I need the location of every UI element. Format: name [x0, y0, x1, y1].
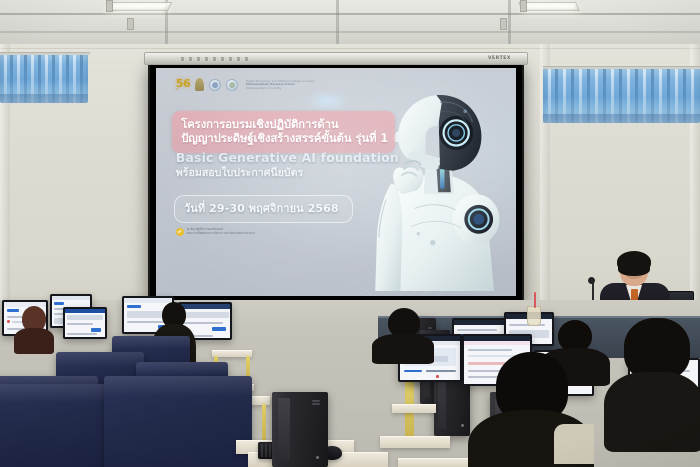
projector-glare-spot	[304, 91, 350, 111]
light-bracket	[500, 18, 507, 30]
desk-surface	[392, 404, 436, 413]
microphone-head-icon	[588, 277, 595, 284]
classroom-foreground	[0, 300, 700, 467]
desk-surface	[398, 458, 470, 467]
student-foreground	[468, 352, 588, 467]
slide-subtitle-english: Basic Generative AI foundation	[176, 151, 435, 166]
slide-title-line-1: โครงการอบรมเชิงปฏิบัติการด้าน	[181, 118, 386, 132]
drink-cup	[527, 306, 541, 326]
light-bracket	[106, 0, 113, 12]
cup-straw	[534, 292, 536, 308]
light-tube	[111, 5, 166, 9]
university-crest-icon	[195, 78, 204, 91]
light-bracket	[127, 18, 134, 30]
pc-tower	[272, 392, 328, 467]
presentation-slide: 56 ปี Digital Technology and Artificial …	[156, 68, 516, 296]
classroom-photo-scene: VERTEX	[0, 0, 700, 467]
slide-date-text: วันที่ 29-30 พฤศจิกายน 2568	[184, 199, 339, 217]
slide-date-pill: วันที่ 29-30 พฤศจิกายน 2568	[174, 195, 353, 223]
light-bracket	[520, 0, 527, 12]
dtai-center-seal-icon	[226, 79, 238, 91]
ceiling-beam	[508, 0, 511, 46]
student-foreground	[604, 318, 700, 438]
monitor-rear-view	[0, 384, 114, 467]
student-seated	[14, 306, 54, 346]
slide-title-plate: โครงการอบรมเชิงปฏิบัติการด้าน ปัญญาประดิ…	[172, 111, 395, 152]
presenter-hair	[617, 251, 651, 273]
check-circle-icon	[176, 228, 184, 236]
faculty-seal-icon	[209, 79, 221, 91]
slide-logo-row: 56 ปี Digital Technology and Artificial …	[176, 78, 315, 91]
projection-screen: 56 ปี Digital Technology and Artificial …	[148, 64, 524, 306]
slide-title-line-2: ปัญญาประดิษฐ์เชิงสร้างสรรค์ขั้นต้น รุ่นท…	[181, 132, 386, 146]
desk-surface	[380, 436, 450, 448]
student-monitor	[63, 307, 107, 339]
housing-vents	[181, 57, 251, 61]
window-curtain-right	[543, 69, 700, 123]
ceiling-beam	[336, 0, 339, 46]
desk-frame	[262, 404, 266, 444]
ceiling	[0, 0, 700, 46]
projector-brand-label: VERTEX	[488, 56, 511, 61]
monitor-screen	[65, 309, 105, 337]
student-hood-collar	[554, 424, 594, 464]
projector-screen-housing: VERTEX	[144, 52, 528, 65]
venue-text-block: ณ ห้องปฏิบัติการคอมพิวเตอร์ คณะการบัญชีแ…	[187, 228, 255, 235]
slide-venue-credit: ณ ห้องปฏิบัติการคอมพิวเตอร์ คณะการบัญชีแ…	[176, 228, 255, 236]
light-tube	[524, 5, 575, 9]
wall-trim-line	[0, 48, 700, 49]
window-curtain-left	[0, 55, 88, 103]
ceiling-light-fixture	[518, 2, 580, 11]
slide-subtitle-block: Basic Generative AI foundation พร้อมสอบใ…	[176, 151, 435, 180]
organization-text-block: Digital Technology and Artificial Intell…	[246, 80, 315, 90]
slide-subtitle-thai: พร้อมสอบใบประกาศนียบัตร	[176, 167, 435, 180]
ceiling-light-fixture	[106, 2, 172, 11]
ceiling-seam	[0, 31, 700, 33]
ceiling-seam	[0, 13, 700, 15]
robot-illustration	[350, 75, 512, 292]
anniversary-56-logo: 56 ปี	[176, 78, 190, 91]
student-seated	[372, 308, 434, 354]
monitor-rear-view	[104, 376, 252, 467]
